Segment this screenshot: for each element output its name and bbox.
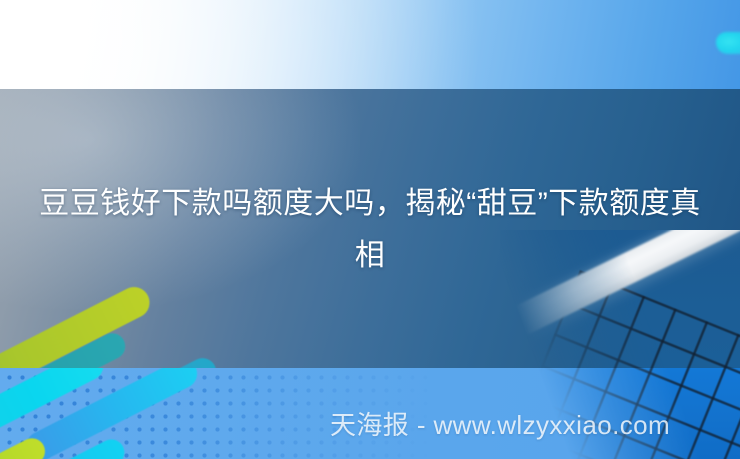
cyan-blob-icon — [716, 32, 740, 54]
page-title: 豆豆钱好下款吗额度大吗，揭秘“甜豆”下款额度真相 — [34, 178, 706, 282]
poster-canvas: 豆豆钱好下款吗额度大吗，揭秘“甜豆”下款额度真相 天海报 - www.wlzyx… — [0, 0, 740, 459]
top-gradient-band — [0, 0, 740, 89]
watermark-text: 天海报 - www.wlzyxxiao.com — [330, 408, 670, 442]
